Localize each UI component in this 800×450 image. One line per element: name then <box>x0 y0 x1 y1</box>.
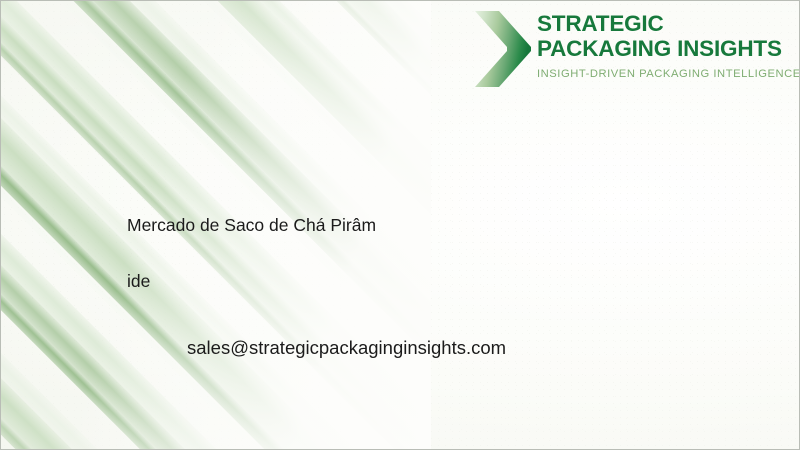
chevron-right-icon <box>473 9 533 89</box>
logo-line-1: STRATEGIC <box>537 13 789 36</box>
logo-line-2: PACKAGING INSIGHTS <box>537 38 789 61</box>
brand-logo: STRATEGIC PACKAGING INSIGHTS INSIGHT-DRI… <box>473 7 789 93</box>
logo-tagline: INSIGHT-DRIVEN PACKAGING INTELLIGENCE <box>537 68 789 80</box>
contact-email: sales@strategicpackaginginsights.com <box>187 337 506 359</box>
slide-subtitle: ide <box>127 271 150 292</box>
logo-wordmark: STRATEGIC PACKAGING INSIGHTS INSIGHT-DRI… <box>537 13 789 80</box>
slide-canvas: STRATEGIC PACKAGING INSIGHTS INSIGHT-DRI… <box>0 0 800 450</box>
slide-title: Mercado de Saco de Chá Pirâm <box>127 215 376 236</box>
